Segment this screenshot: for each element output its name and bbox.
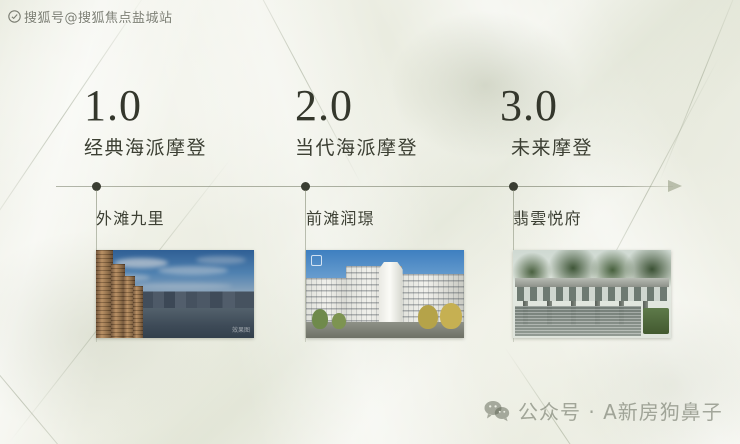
slide-canvas: 搜狐号@搜狐焦点盐城站 1.0 经典海派摩登 外滩九里 效果图 [0, 0, 740, 444]
wechat-watermark: 公众号 · A新房狗鼻子 [484, 396, 723, 425]
project-name-2: 前滩润璟 [306, 211, 375, 227]
villa-upper-floor [517, 287, 667, 301]
scene-riverside-dusk: 效果图 [96, 250, 254, 338]
project-name-3: 翡雲悦府 [513, 211, 582, 227]
axis-arrow-right-icon [668, 180, 682, 192]
street-tree-4 [440, 303, 462, 329]
brand-mark-icon [311, 255, 322, 266]
project-thumbnail-2[interactable] [306, 250, 464, 338]
sohu-watermark-text: 搜狐号@搜狐焦点盐城站 [24, 7, 173, 26]
sohu-logo-icon [8, 10, 21, 23]
timeline-axis [56, 186, 673, 187]
wechat-watermark-text: 公众号 · A新房狗鼻子 [518, 396, 723, 425]
sohu-watermark: 搜狐号@搜狐焦点盐城站 [8, 7, 173, 26]
project-name-1: 外滩九里 [96, 211, 165, 227]
street-tree-1 [312, 309, 328, 329]
milestone-title-1: 经典海派摩登 [84, 139, 207, 158]
cloud-4 [196, 256, 246, 264]
project-thumbnail-3[interactable] [513, 250, 671, 338]
wechat-icon [484, 400, 510, 422]
street-tree-2 [332, 313, 346, 329]
milestone-title-2: 当代海派摩登 [295, 139, 418, 158]
milestone-number-1: 1.0 [84, 84, 142, 128]
street-ground [306, 322, 464, 338]
lawn-strip [643, 308, 669, 334]
scene-modern-villas [513, 250, 671, 338]
milestone-number-2: 2.0 [295, 84, 353, 128]
milestone-title-3: 未来摩登 [511, 139, 593, 158]
villa-roof-slab [515, 278, 669, 287]
scene-art-deco-complex [306, 250, 464, 338]
image-corner-watermark: 效果图 [232, 325, 250, 334]
reflecting-pool [515, 306, 641, 336]
project-thumbnail-1[interactable]: 效果图 [96, 250, 254, 338]
milestone-number-3: 3.0 [500, 84, 558, 128]
street-tree-3 [418, 305, 438, 329]
apartment-crown-tower [379, 262, 403, 324]
residential-tower-d [133, 286, 143, 338]
cloud-2 [158, 266, 228, 275]
